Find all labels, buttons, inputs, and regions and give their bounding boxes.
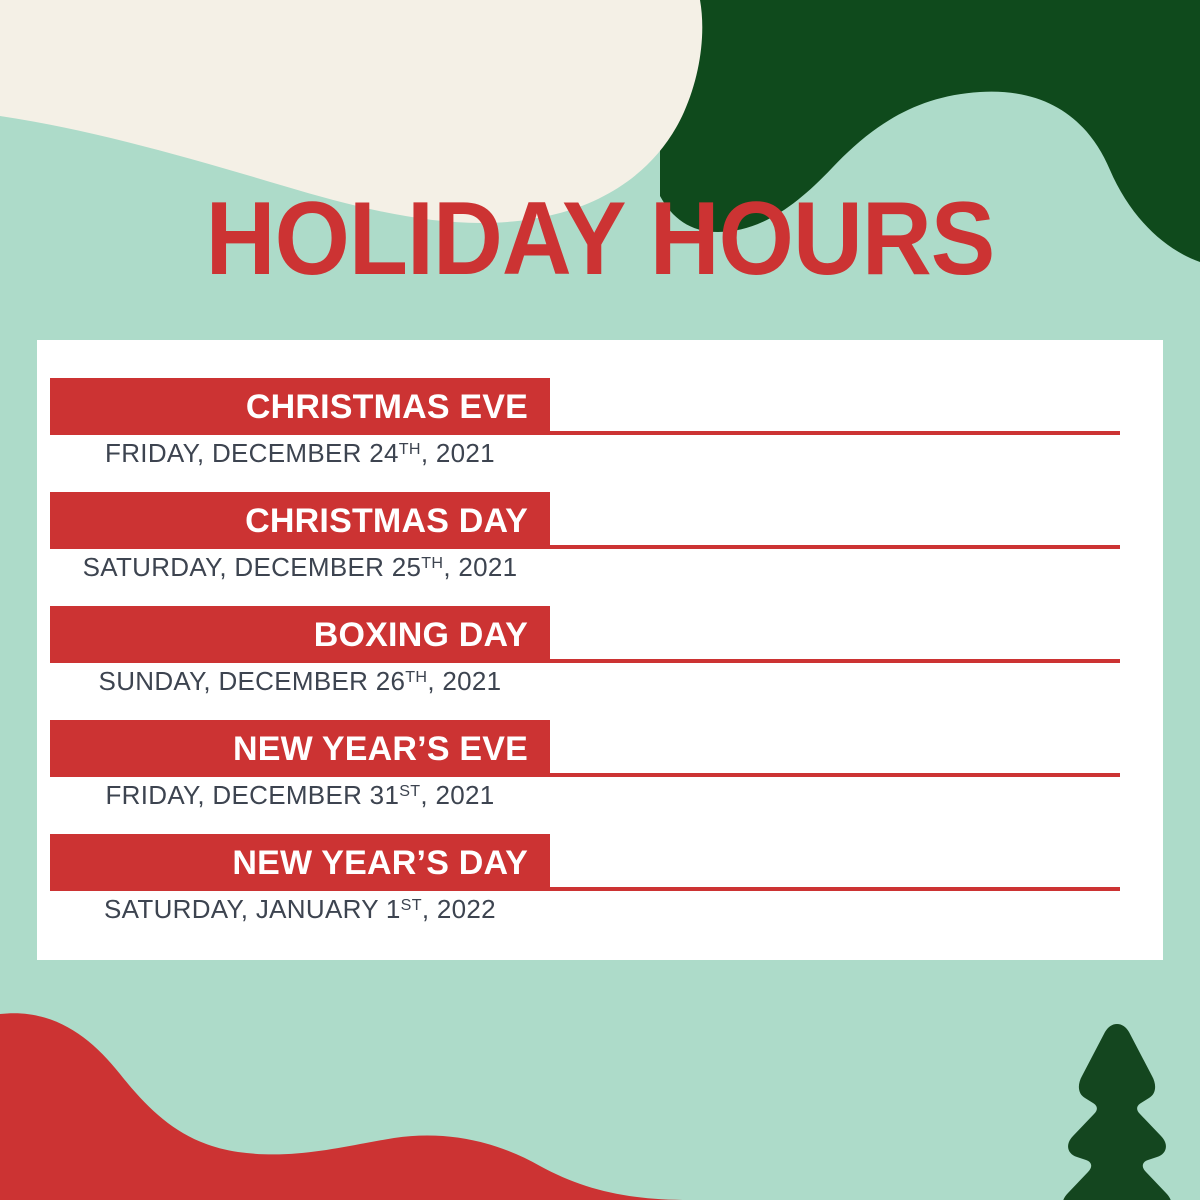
hours-rule [550, 545, 1120, 549]
date-year: , 2021 [427, 666, 501, 696]
hours-rule [550, 659, 1120, 663]
date-year: , 2021 [443, 552, 517, 582]
hours-list: CHRISTMAS EVE FRIDAY, DECEMBER 24TH, 202… [37, 340, 1163, 960]
date-weekday: FRIDAY, [105, 438, 212, 468]
date-ordinal: TH [421, 554, 443, 572]
hours-rule [550, 773, 1120, 777]
date-ordinal: TH [399, 440, 421, 458]
holiday-name: NEW YEAR’S DAY [232, 846, 528, 880]
holiday-banner: CHRISTMAS DAY [50, 492, 550, 549]
date-weekday: SATURDAY, [83, 552, 235, 582]
date-month-day: DECEMBER 26 [218, 666, 405, 696]
date-month-day: DECEMBER 31 [212, 780, 399, 810]
page-title-wrap: HOLIDAY HOURS [0, 186, 1200, 292]
hours-rule [550, 887, 1120, 891]
holiday-date: FRIDAY, DECEMBER 24TH, 2021 [50, 438, 550, 469]
date-weekday: FRIDAY, [105, 780, 212, 810]
holiday-name: CHRISTMAS DAY [245, 504, 528, 538]
holiday-date: SUNDAY, DECEMBER 26TH, 2021 [50, 666, 550, 697]
holiday-name: CHRISTMAS EVE [246, 390, 528, 424]
holiday-date: SATURDAY, DECEMBER 25TH, 2021 [50, 552, 550, 583]
hours-row: CHRISTMAS DAY SATURDAY, DECEMBER 25TH, 2… [37, 492, 1163, 604]
holiday-banner: CHRISTMAS EVE [50, 378, 550, 435]
holiday-name: NEW YEAR’S EVE [233, 732, 528, 766]
date-month-day: JANUARY 1 [256, 894, 401, 924]
date-ordinal: ST [401, 896, 422, 914]
hours-row: BOXING DAY SUNDAY, DECEMBER 26TH, 2021 [37, 606, 1163, 718]
date-weekday: SATURDAY, [104, 894, 256, 924]
date-year: , 2021 [420, 780, 494, 810]
holiday-banner: NEW YEAR’S EVE [50, 720, 550, 777]
date-ordinal: TH [405, 668, 427, 686]
schedule-card: CHRISTMAS EVE FRIDAY, DECEMBER 24TH, 202… [37, 340, 1163, 960]
holiday-name: BOXING DAY [314, 618, 528, 652]
holiday-banner: BOXING DAY [50, 606, 550, 663]
holiday-date: SATURDAY, JANUARY 1ST, 2022 [50, 894, 550, 925]
page-title: HOLIDAY HOURS [206, 186, 995, 292]
hours-row: NEW YEAR’S DAY SATURDAY, JANUARY 1ST, 20… [37, 834, 1163, 946]
holiday-banner: NEW YEAR’S DAY [50, 834, 550, 891]
hours-row: NEW YEAR’S EVE FRIDAY, DECEMBER 31ST, 20… [37, 720, 1163, 832]
date-ordinal: ST [399, 782, 420, 800]
date-year: , 2022 [422, 894, 496, 924]
date-month-day: DECEMBER 25 [234, 552, 421, 582]
date-year: , 2021 [421, 438, 495, 468]
holiday-date: FRIDAY, DECEMBER 31ST, 2021 [50, 780, 550, 811]
date-weekday: SUNDAY, [99, 666, 219, 696]
date-month-day: DECEMBER 24 [212, 438, 399, 468]
hours-rule [550, 431, 1120, 435]
holiday-hours-poster: HOLIDAY HOURS CHRISTMAS EVE FRIDAY, DECE… [0, 0, 1200, 1200]
hours-row: CHRISTMAS EVE FRIDAY, DECEMBER 24TH, 202… [37, 378, 1163, 490]
